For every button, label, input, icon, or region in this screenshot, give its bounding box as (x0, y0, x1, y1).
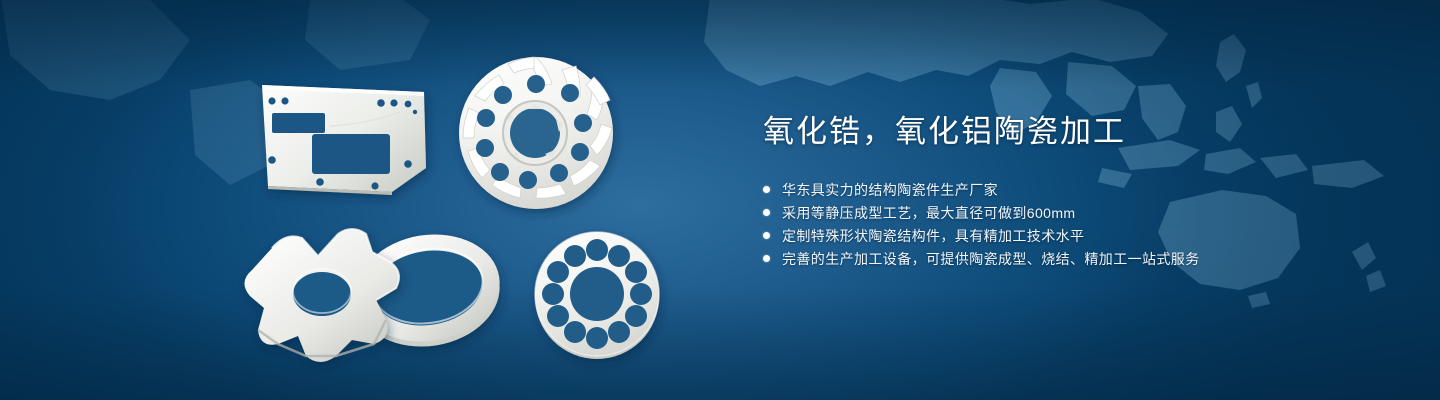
ceramic-cross-plate (244, 229, 398, 362)
ceramic-flat-plate (262, 85, 426, 195)
product-photo-group (0, 0, 740, 400)
bullet-dot-icon (763, 232, 770, 239)
list-item: 华东具实力的结构陶瓷件生产厂家 (763, 178, 1383, 201)
banner-copy: 氧化锆，氧化铝陶瓷加工 华东具实力的结构陶瓷件生产厂家 采用等静压成型工艺，最大… (763, 112, 1383, 270)
list-item: 采用等静压成型工艺，最大直径可做到600mm (763, 201, 1383, 224)
feature-text: 完善的生产加工设备，可提供陶瓷成型、烧结、精加工一站式服务 (782, 249, 1200, 269)
feature-text: 定制特殊形状陶瓷结构件，具有精加工技术水平 (782, 226, 1084, 246)
ceramic-perforated-disc (535, 232, 659, 359)
feature-text: 华东具实力的结构陶瓷件生产厂家 (782, 180, 998, 200)
promo-banner: 氧化锆，氧化铝陶瓷加工 华东具实力的结构陶瓷件生产厂家 采用等静压成型工艺，最大… (0, 0, 1440, 400)
bullet-dot-icon (763, 255, 770, 262)
ceramic-bladed-impeller (459, 57, 613, 209)
list-item: 定制特殊形状陶瓷结构件，具有精加工技术水平 (763, 224, 1383, 247)
bullet-dot-icon (763, 186, 770, 193)
list-item: 完善的生产加工设备，可提供陶瓷成型、烧结、精加工一站式服务 (763, 247, 1383, 270)
bullet-dot-icon (763, 209, 770, 216)
feature-list: 华东具实力的结构陶瓷件生产厂家 采用等静压成型工艺，最大直径可做到600mm 定… (763, 178, 1383, 270)
feature-text: 采用等静压成型工艺，最大直径可做到600mm (782, 203, 1075, 223)
page-title: 氧化锆，氧化铝陶瓷加工 (763, 112, 1383, 152)
